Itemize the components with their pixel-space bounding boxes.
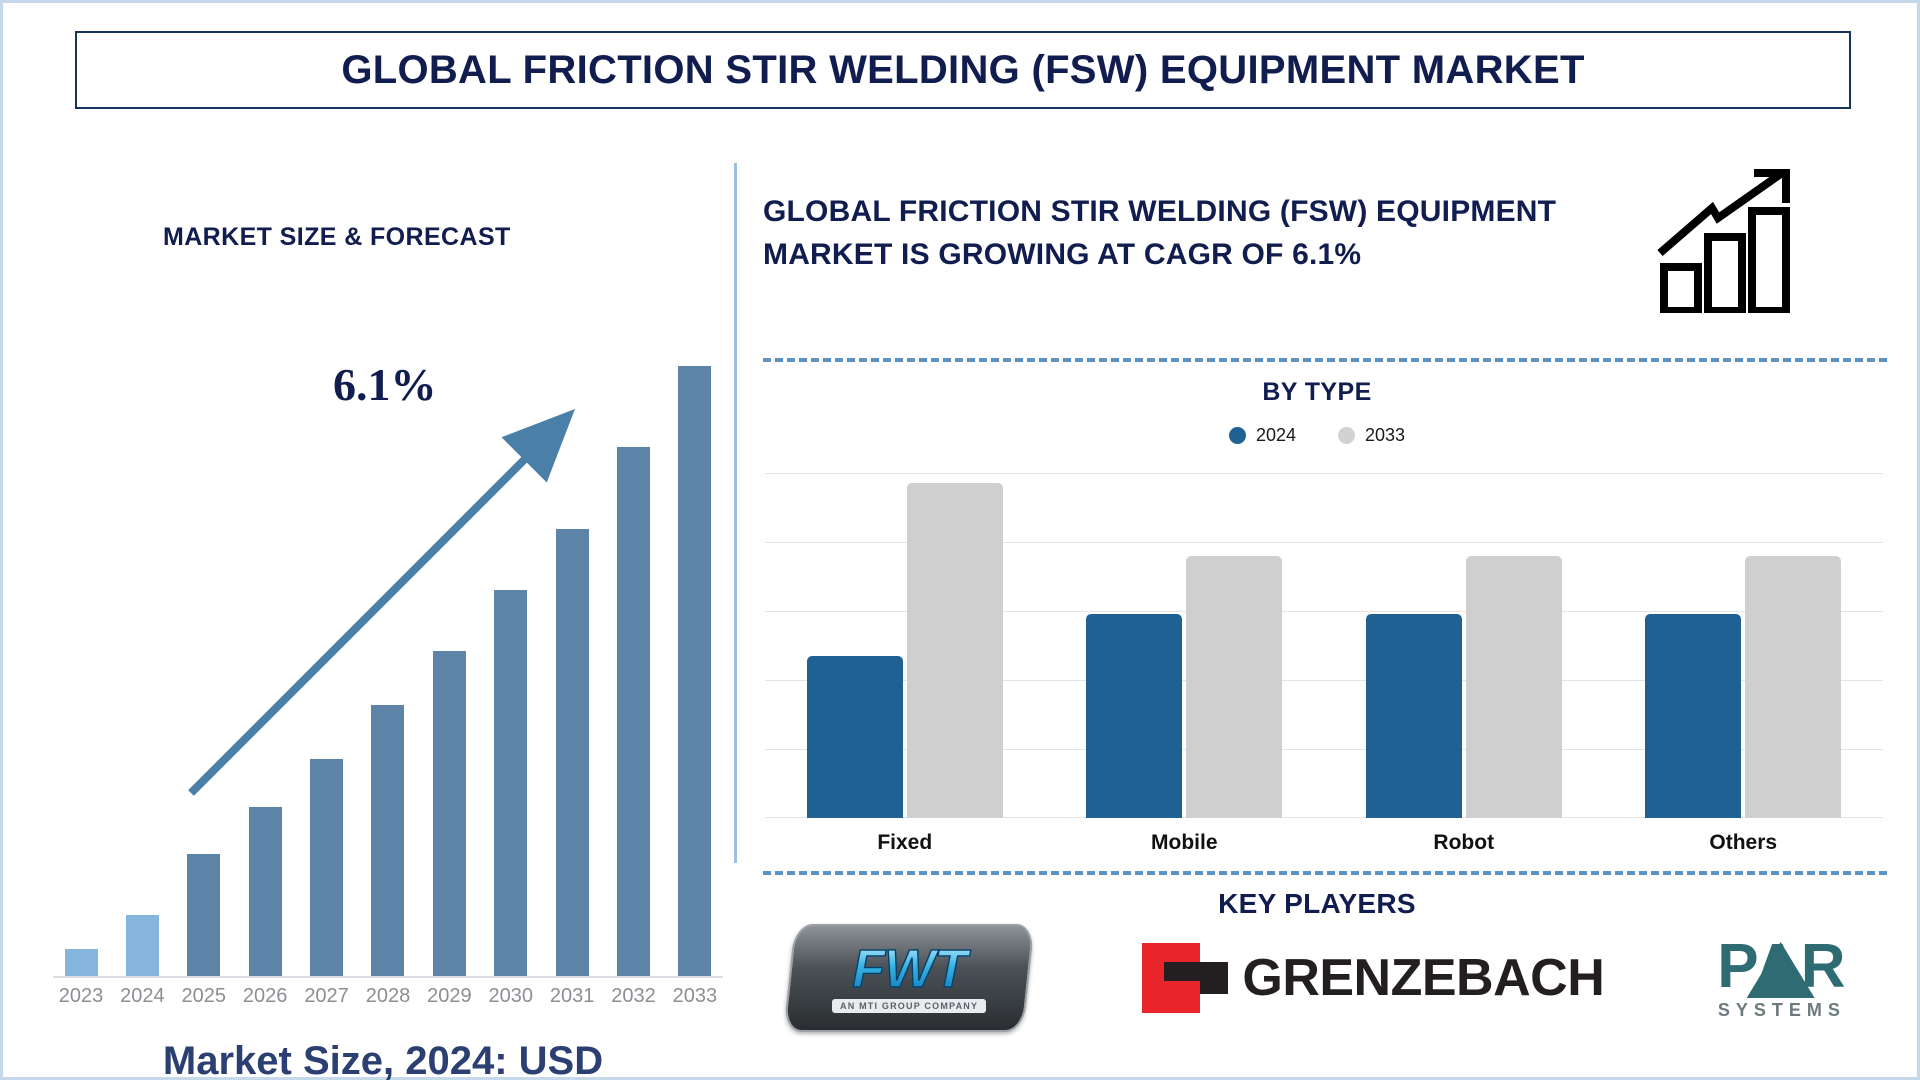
forecast-bar-slot	[667, 298, 723, 976]
forecast-bar	[556, 529, 589, 976]
by-type-category-label: Others	[1618, 831, 1868, 855]
forecast-bar-slot	[544, 298, 600, 976]
by-type-category-group	[1059, 473, 1309, 818]
forecast-bar-slot	[483, 298, 539, 976]
legend-dot-icon	[1229, 427, 1246, 444]
par-subline: SYSTEMS	[1717, 1000, 1846, 1021]
fwt-logo-plate: FWT AN MTI GROUP COMPANY	[784, 924, 1035, 1032]
forecast-bar	[433, 651, 466, 976]
forecast-bar	[249, 807, 282, 977]
forecast-bar	[65, 949, 98, 976]
growth-bar-chart-arrow-icon	[1650, 163, 1810, 313]
by-type-category-axis: FixedMobileRobotOthers	[765, 831, 1883, 855]
market-size-note-line1: Market Size, 2024: USD	[33, 1038, 733, 1080]
forecast-bar-slot	[114, 298, 170, 976]
forecast-year-label: 2025	[176, 985, 232, 1008]
forecast-year-label: 2033	[667, 985, 723, 1008]
par-wordmark: PAR	[1717, 936, 1846, 998]
forecast-year-label: 2029	[421, 985, 477, 1008]
forecast-year-label: 2032	[606, 985, 662, 1008]
forecast-bar-slot	[176, 298, 232, 976]
forecast-bar-slot	[421, 298, 477, 976]
market-size-forecast-label: MARKET SIZE & FORECAST	[163, 223, 511, 252]
forecast-bar	[310, 759, 343, 976]
forecast-bar-slot	[53, 298, 109, 976]
legend-item[interactable]: 2033	[1338, 425, 1405, 446]
forecast-bar-slot	[299, 298, 355, 976]
grenzebach-wordmark: GRENZEBACH	[1242, 948, 1604, 1008]
by-type-category-label: Fixed	[780, 831, 1030, 855]
by-type-title: BY TYPE	[755, 378, 1879, 407]
by-type-category-group	[780, 473, 1030, 818]
by-type-category-label: Mobile	[1059, 831, 1309, 855]
growth-statement: GLOBAL FRICTION STIR WELDING (FSW) EQUIP…	[763, 191, 1603, 276]
by-type-bar	[1645, 614, 1741, 818]
legend-label: 2024	[1256, 425, 1296, 446]
chart-legend: 20242033	[755, 425, 1879, 446]
forecast-bar	[126, 915, 159, 976]
infographic-page: GLOBAL FRICTION STIR WELDING (FSW) EQUIP…	[0, 0, 1920, 1080]
forecast-bar	[678, 366, 711, 976]
divider-dashed-top	[763, 358, 1887, 362]
by-type-bar	[807, 656, 903, 818]
logo-fwt: FWT AN MTI GROUP COMPANY	[789, 924, 1029, 1032]
forecast-bar	[187, 854, 220, 976]
chart-baseline	[53, 976, 723, 978]
forecast-year-label: 2024	[114, 985, 170, 1008]
by-type-category-group	[1339, 473, 1589, 818]
logo-grenzebach: GRENZEBACH	[1142, 943, 1604, 1013]
forecast-year-axis: 2023202420252026202720282029203020312032…	[53, 985, 723, 1008]
forecast-bar-slot	[237, 298, 293, 976]
forecast-bar-slot	[606, 298, 662, 976]
key-players-logos: FWT AN MTI GROUP COMPANY GRENZEBACH PAR	[733, 903, 1903, 1053]
fwt-tagline: AN MTI GROUP COMPANY	[832, 999, 986, 1013]
by-type-bar	[1745, 556, 1841, 818]
by-type-category-label: Robot	[1339, 831, 1589, 855]
fwt-wordmark: FWT	[832, 942, 986, 996]
forecast-bar-group	[53, 298, 723, 976]
divider-dashed-bottom	[763, 871, 1887, 875]
by-type-chart	[765, 473, 1883, 818]
par-triangle-icon	[1746, 942, 1814, 998]
market-size-note: Market Size, 2024: USD ~229.50 Million	[33, 1038, 733, 1080]
by-type-category-group	[1618, 473, 1868, 818]
by-type-bar-group	[765, 473, 1883, 818]
by-type-bar	[1366, 614, 1462, 818]
by-type-bar	[1186, 556, 1282, 818]
forecast-year-label: 2031	[544, 985, 600, 1008]
left-panel: MARKET SIZE & FORECAST 6.1% 202320242025…	[3, 123, 733, 1073]
title-banner: GLOBAL FRICTION STIR WELDING (FSW) EQUIP…	[75, 31, 1851, 109]
legend-item[interactable]: 2024	[1229, 425, 1296, 446]
forecast-bar	[494, 590, 527, 976]
forecast-bar	[371, 705, 404, 976]
legend-dot-icon	[1338, 427, 1355, 444]
forecast-bar	[617, 447, 650, 976]
forecast-year-label: 2027	[299, 985, 355, 1008]
forecast-year-label: 2023	[53, 985, 109, 1008]
forecast-year-label: 2028	[360, 985, 416, 1008]
legend-label: 2033	[1365, 425, 1405, 446]
forecast-year-label: 2026	[237, 985, 293, 1008]
by-type-bar	[907, 483, 1003, 818]
panel-divider	[734, 163, 737, 863]
forecast-year-label: 2030	[483, 985, 539, 1008]
page-title: GLOBAL FRICTION STIR WELDING (FSW) EQUIP…	[341, 48, 1584, 93]
by-type-bar	[1086, 614, 1182, 818]
logo-par-systems: PAR SYSTEMS	[1717, 936, 1846, 1021]
by-type-bar	[1466, 556, 1562, 818]
market-size-forecast-chart	[53, 298, 723, 978]
forecast-bar-slot	[360, 298, 416, 976]
grenzebach-mark-icon	[1142, 943, 1228, 1013]
